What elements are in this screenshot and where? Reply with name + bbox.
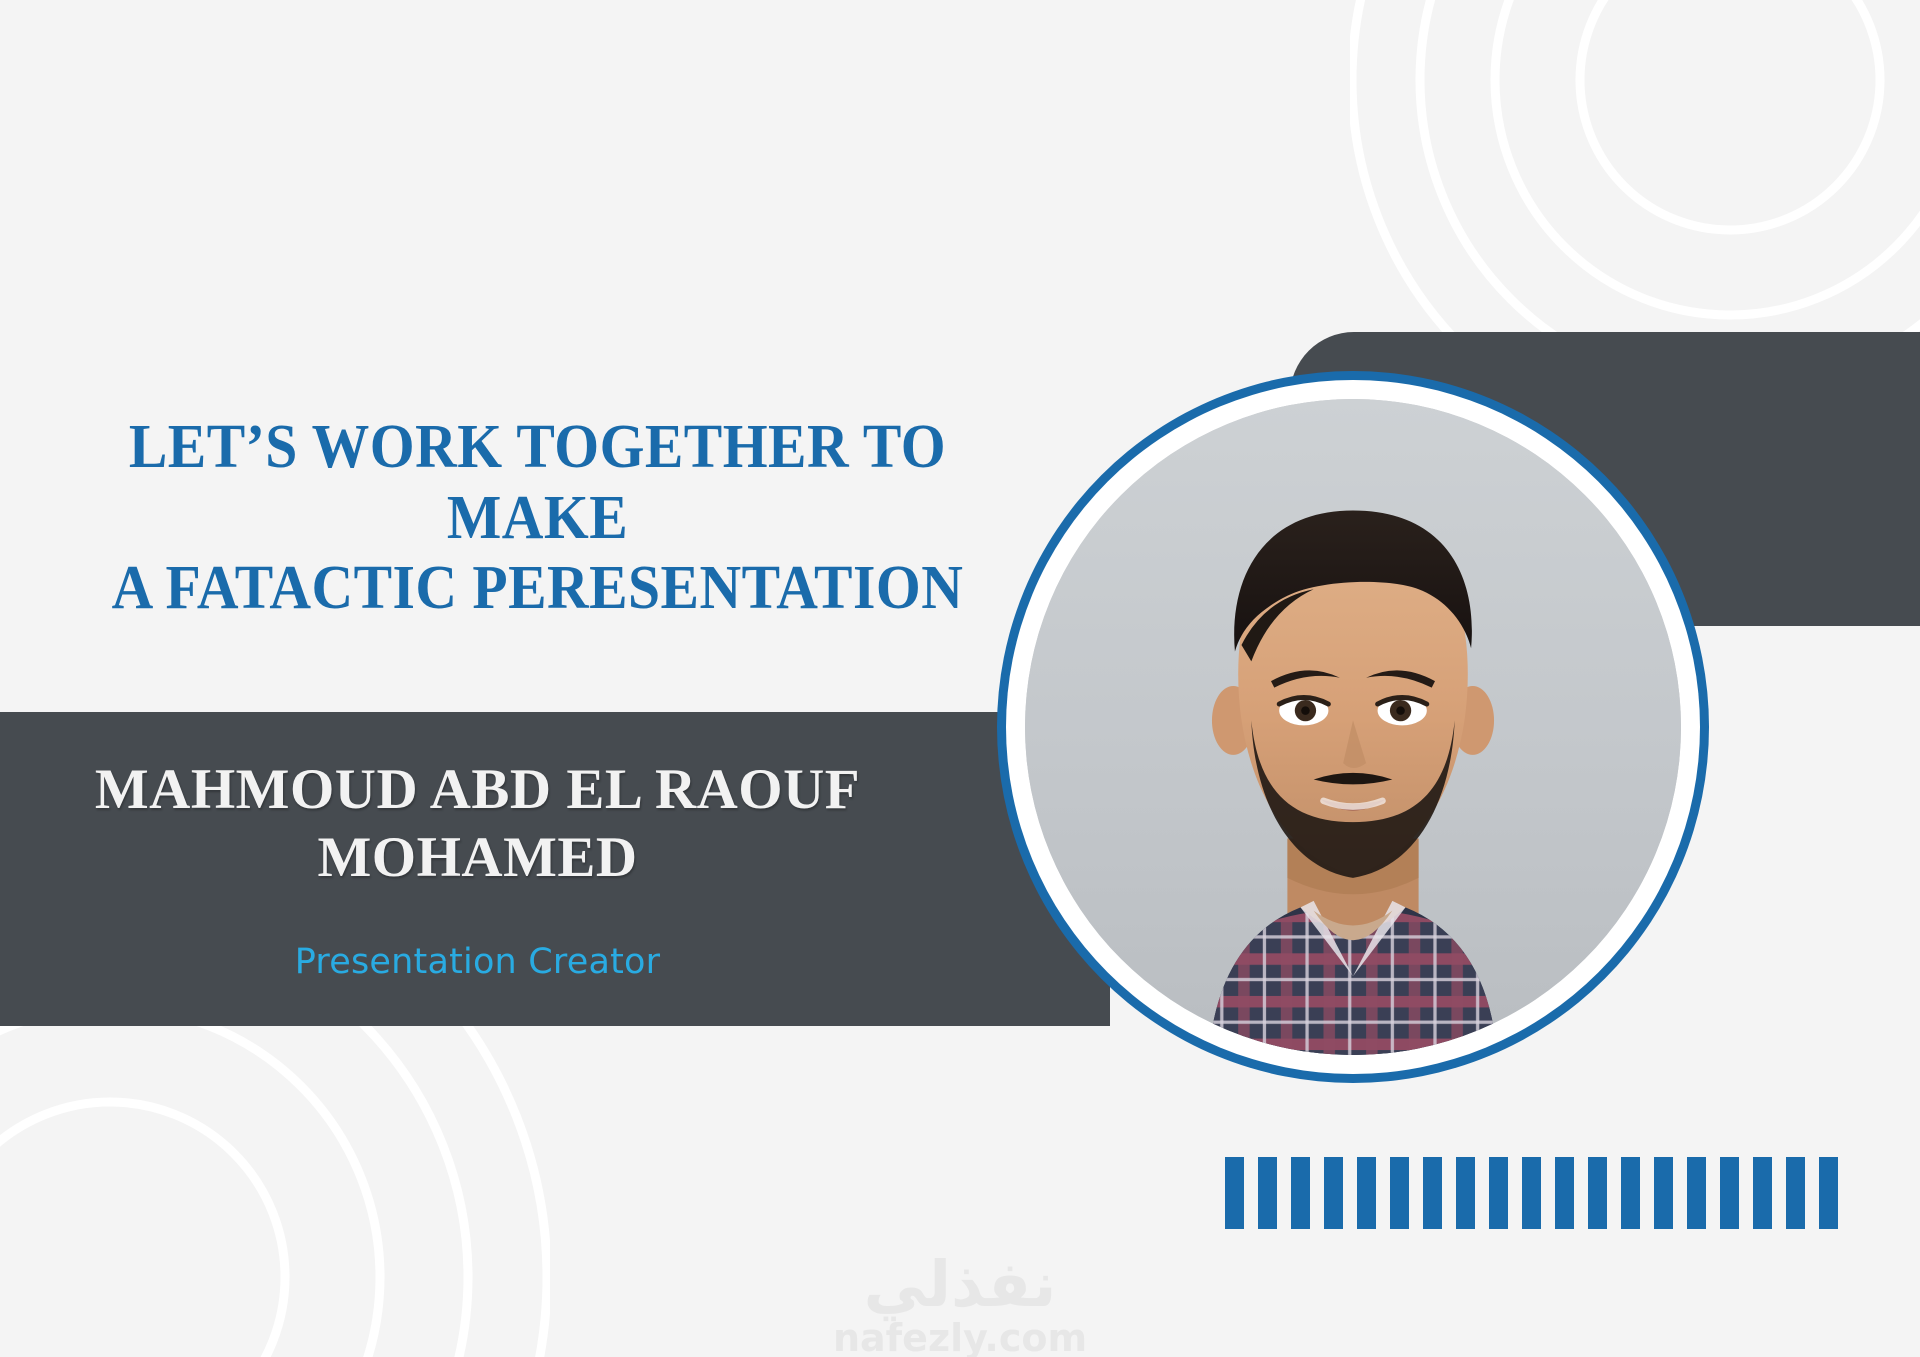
blue-bar [1522, 1157, 1541, 1229]
watermark-domain: nafezly.com [0, 1318, 1920, 1357]
blue-bar [1786, 1157, 1805, 1229]
blue-bar [1621, 1157, 1640, 1229]
blue-bar [1357, 1157, 1376, 1229]
blue-bar [1588, 1157, 1607, 1229]
blue-bar [1291, 1157, 1310, 1229]
blue-bar [1555, 1157, 1574, 1229]
blue-bar [1258, 1157, 1277, 1229]
blue-bar [1390, 1157, 1409, 1229]
blue-bar [1423, 1157, 1442, 1229]
blue-bar [1489, 1157, 1508, 1229]
blue-bar [1324, 1157, 1343, 1229]
watermark-arabic: نفذلي [0, 1253, 1920, 1316]
blue-bar [1654, 1157, 1673, 1229]
presenter-name: MAHMOUD ABD EL RAOUF MOHAMED [0, 756, 955, 893]
presentation-slide: LET’S WORK TOGETHER TO MAKE A FATACTIC P… [0, 0, 1920, 1357]
avatar [1025, 399, 1681, 1055]
portrait-white-ring [1006, 380, 1700, 1074]
presenter-name-band: MAHMOUD ABD EL RAOUF MOHAMED Presentatio… [0, 712, 1110, 1026]
blue-bar [1720, 1157, 1739, 1229]
portrait-illustration-icon [1025, 399, 1681, 1055]
blue-bar [1225, 1157, 1244, 1229]
watermark: نفذلي nafezly.com [0, 1253, 1920, 1357]
blue-bar-strip [1225, 1157, 1838, 1229]
slide-headline: LET’S WORK TOGETHER TO MAKE A FATACTIC P… [38, 412, 1038, 624]
blue-bar [1687, 1157, 1706, 1229]
portrait-frame [997, 371, 1709, 1083]
presenter-role: Presentation Creator [0, 942, 955, 982]
blue-bar [1819, 1157, 1838, 1229]
blue-bar [1753, 1157, 1772, 1229]
blue-bar [1456, 1157, 1475, 1229]
